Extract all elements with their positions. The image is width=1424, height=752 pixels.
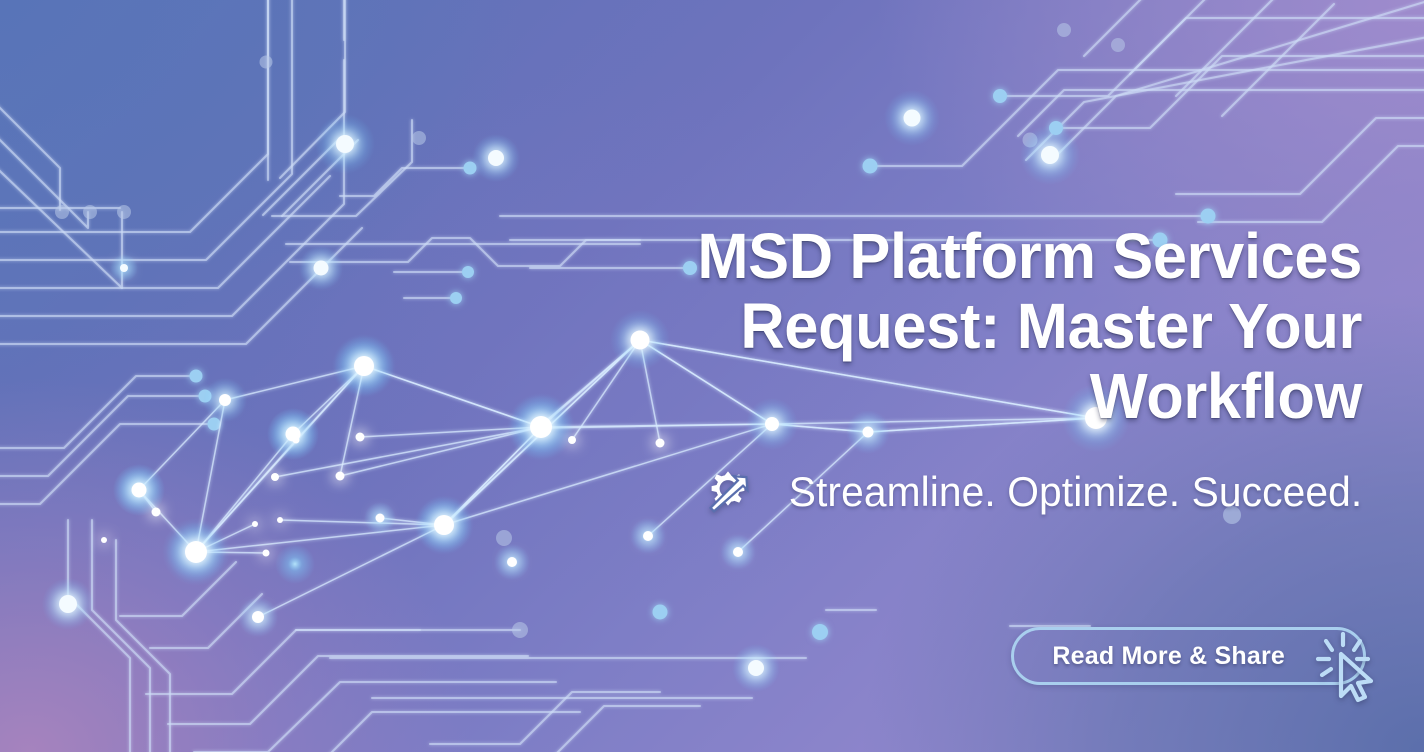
cta-container: Read More & Share	[1011, 627, 1366, 685]
read-more-and-share-button[interactable]: Read More & Share	[1011, 627, 1366, 685]
banner-subtitle-row: Streamline. Optimize. Succeed.	[602, 469, 1362, 515]
promotional-banner: MSD Platform Services Request: Master Yo…	[0, 0, 1424, 752]
cta-label: Read More & Share	[1052, 642, 1285, 671]
banner-subtitle: Streamline. Optimize. Succeed.	[788, 469, 1362, 515]
headline-line-2: Request: Master Your	[740, 290, 1362, 362]
banner-headline: MSD Platform Services Request: Master Yo…	[632, 222, 1362, 431]
gear-arrow-optimize-icon	[705, 469, 751, 515]
headline-line-3: Workflow	[1090, 360, 1362, 432]
banner-content: MSD Platform Services Request: Master Yo…	[602, 222, 1362, 515]
headline-line-1: MSD Platform Services	[697, 220, 1362, 292]
